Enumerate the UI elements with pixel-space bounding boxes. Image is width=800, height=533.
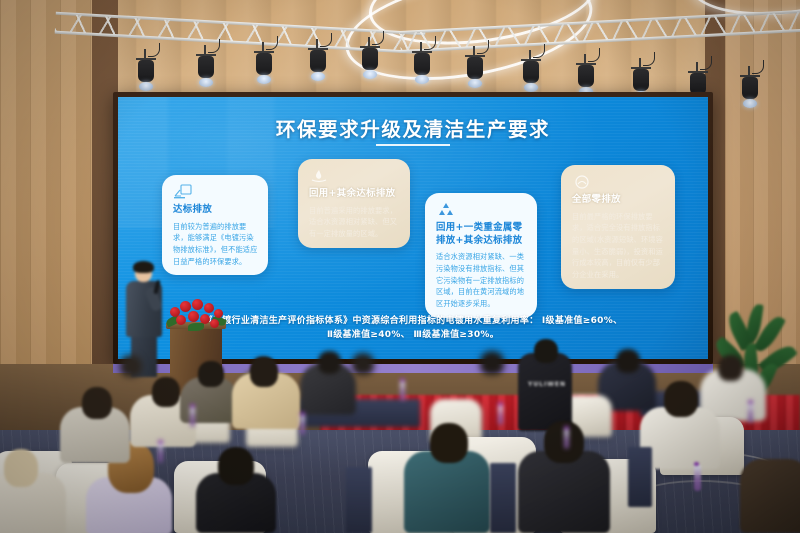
- conference-hall-photo: 环保要求升级及清洁生产要求 达标排放 目前较为普遍的排放要求，能够满足《电镀污染…: [0, 0, 800, 533]
- stage-spotlight-icon: [578, 64, 594, 94]
- stage-spotlight-icon: [310, 49, 326, 79]
- stage-spotlight-icon: [523, 60, 539, 90]
- card-heading: 全部零排放: [572, 194, 665, 207]
- slide-card-zero-heavy-metal: 回用+一类重金属零排放+其余达标排放 适合水资源相对紧缺、一类污染物没有排放指标…: [425, 193, 537, 318]
- water-drop-icon: [309, 168, 329, 184]
- stage-spotlight-icon: [138, 59, 154, 89]
- presenter-hair: [133, 261, 154, 273]
- document-stamp-icon: [173, 184, 193, 200]
- flower-arrangement: [164, 297, 228, 331]
- stage-spotlight-icon: [467, 56, 483, 86]
- card-heading: 回用+其余达标排放: [309, 188, 400, 201]
- recycle-icon: [436, 202, 456, 218]
- card-heading: 达标排放: [173, 204, 258, 217]
- card-body: 目前最严格的环保排放要求，适合完全没有排放指标的区域(水资源短缺、环境容量小、生…: [572, 211, 665, 281]
- audience-seating: YULIWEN: [0, 355, 800, 533]
- jacket-brand-text: YULIWEN: [528, 381, 566, 388]
- stage-spotlight-icon: [198, 55, 214, 85]
- card-body: 目前较为普遍的排放要求，能够满足《电镀污染物排放标准》，但不能适应日益严格的环保…: [173, 221, 258, 268]
- slide-card-da-biao-pai-fang: 达标排放 目前较为普遍的排放要求，能够满足《电镀污染物排放标准》，但不能适应日益…: [162, 175, 268, 275]
- stage-spotlight-icon: [414, 52, 430, 82]
- card-heading: 回用+一类重金属零排放+其余达标排放: [436, 222, 527, 247]
- stage-spotlight-icon: [742, 76, 758, 106]
- card-body: 适合水资源相对紧缺、一类污染物没有排放指标、但其它污染物有一定排放指标的区域，目…: [436, 251, 527, 309]
- slide-card-quan-bu-ling-pai-fang: 全部零排放 目前最严格的环保排放要求，适合完全没有排放指标的区域(水资源短缺、环…: [561, 165, 675, 289]
- stage-spotlight-icon: [362, 47, 378, 77]
- slide-card-hui-yong-qi-yu: 回用+其余达标排放 目前普遍采用的排放要求，适合水资源相对紧缺、但又有一定排放量…: [298, 159, 410, 248]
- card-body: 目前普遍采用的排放要求，适合水资源相对紧缺、但又有一定排放量的区域。: [309, 205, 400, 240]
- stage-spotlight-icon: [256, 52, 272, 82]
- zero-discharge-icon: [572, 174, 592, 190]
